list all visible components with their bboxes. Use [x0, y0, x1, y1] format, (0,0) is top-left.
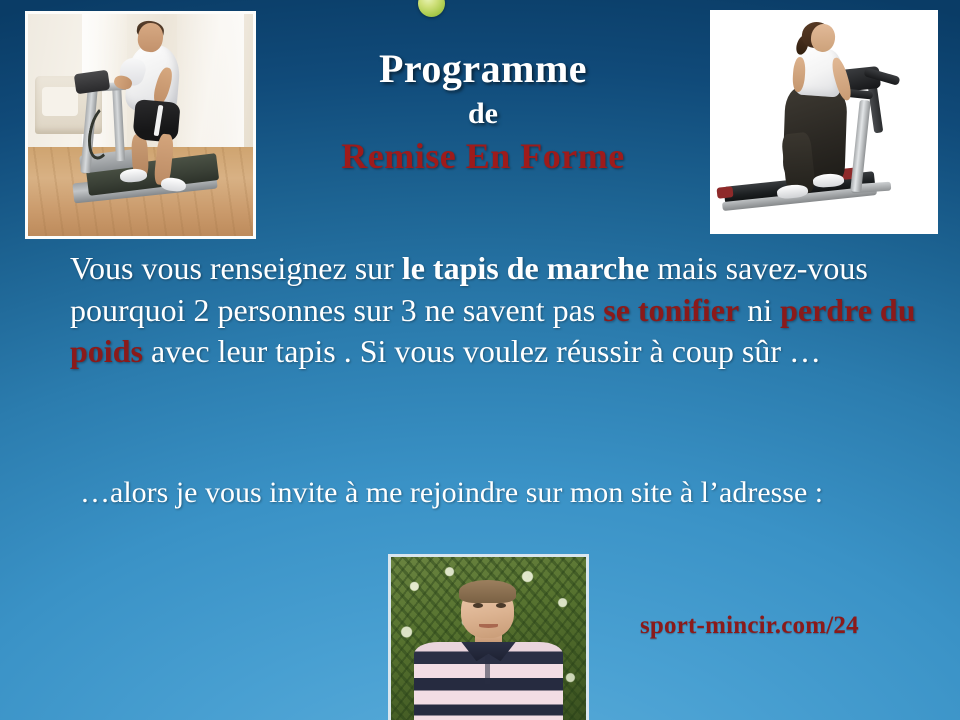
body-paragraph-1: Vous vous renseignez sur le tapis de mar… [70, 248, 920, 373]
white-studio-scene [713, 13, 935, 231]
room-curtain-right [177, 14, 245, 152]
portrait-eye-left [473, 603, 483, 608]
title-line-programme: Programme [268, 48, 698, 90]
para1-segment-1: Vous vous renseignez sur [70, 250, 402, 286]
author-portrait-photo [388, 554, 589, 720]
title-line-remise-en-forme: Remise En Forme [268, 138, 698, 176]
green-bullet-circle-icon [418, 0, 445, 17]
portrait-eye-right [496, 603, 506, 608]
para1-red-se-tonifier: se tonifier [603, 292, 739, 328]
website-url[interactable]: sport-mincir.com/24 [640, 612, 859, 640]
room-sofa-cushion [42, 87, 78, 116]
treadmill-man-photo [25, 11, 256, 239]
slide-title: Programme de Remise En Forme [268, 48, 698, 175]
room-scene [28, 14, 253, 236]
body-paragraph-2: …alors je vous invite à me rejoindre sur… [80, 473, 920, 513]
portrait-mouth [479, 624, 499, 628]
portrait-hair [459, 580, 516, 603]
presentation-slide: Programme de Remise En Forme Vous vous r… [0, 0, 960, 720]
para1-segment-4: avec leur tapis . Si vous voulez réussir… [143, 333, 821, 369]
para1-segment-3: ni [739, 292, 780, 328]
portrait-polo-placket [485, 655, 491, 684]
para1-bold-tapis-de-marche: le tapis de marche [402, 250, 649, 286]
woman-treadmill-endcap-left [717, 187, 734, 199]
title-line-de: de [268, 98, 698, 130]
treadmill-woman-photo [710, 10, 938, 234]
